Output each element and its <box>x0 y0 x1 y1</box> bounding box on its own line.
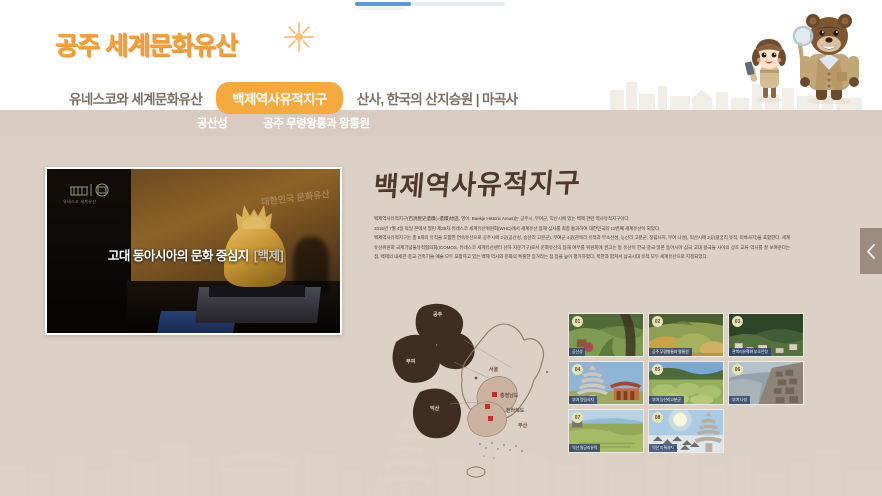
video-caption: 고대 동아시아의 문화 중심지[백제] <box>47 245 342 264</box>
korea-heritage-map[interactable]: 공주 부여 익산 서울 충청남도 전라북도 부산 <box>392 300 570 488</box>
gallery-item-05[interactable]: 05 부여 능산리고분군 <box>648 361 724 405</box>
map-label-seoul: 서울 <box>489 366 498 373</box>
heritage-photo-gallery: 01 공산성 02 공주 무령왕릉과 왕릉원 <box>568 313 808 453</box>
gallery-item-03[interactable]: 03 관북리유적과 부소산성 <box>728 313 804 357</box>
video-caption-tag: [백제] <box>254 249 283 263</box>
bear-mascot <box>794 14 859 104</box>
gallery-item-01[interactable]: 01 공산성 <box>568 313 644 357</box>
map-region-gongju: 공주 <box>433 311 442 318</box>
gallery-caption-06: 부여 나성 <box>729 396 750 404</box>
map-label-chungcheongnam: 충청남도 <box>500 392 518 399</box>
map-region-buyeo: 부여 <box>406 358 415 365</box>
nav-item-sansa[interactable]: 산사, 한국의 산지승원 | 마곡사 <box>343 82 532 114</box>
gallery-item-07[interactable]: 07 익산 왕궁리유적 <box>568 409 644 453</box>
gallery-caption-01: 공산성 <box>569 348 585 356</box>
chevron-left-icon <box>866 243 877 260</box>
gallery-item-06[interactable]: 06 부여 나성 <box>728 361 804 405</box>
map-graphic <box>392 300 570 488</box>
video-logo-caption: 유네스코 세계유산 <box>63 199 96 205</box>
sparkle-icon <box>282 20 316 54</box>
loading-bar-fill <box>355 2 411 6</box>
gallery-item-08[interactable]: 08 익산 미륵사지 <box>648 409 724 453</box>
site-logo[interactable]: 공주 세계문화유산 <box>55 26 237 62</box>
main-navigation: 유네스코와 세계문화유산 백제역사유적지구 산사, 한국의 산지승원 | 마곡사 <box>55 82 532 114</box>
loading-bar-ghost <box>358 7 404 10</box>
mascot-group <box>736 8 876 104</box>
nav-item-baekje[interactable]: 백제역사유적지구 <box>216 82 343 114</box>
gallery-number-03: 03 <box>732 316 743 327</box>
gallery-caption-07: 익산 왕궁리유적 <box>569 444 600 452</box>
article-paragraph-3: 백제역사유적지구는 총 8개의 유적을 포함한 연속유산으로 공주시에 2곳(공… <box>374 233 790 262</box>
gallery-number-08: 08 <box>652 412 663 423</box>
gallery-number-06: 06 <box>732 364 743 375</box>
gallery-caption-05: 부여 능산리고분군 <box>649 396 684 404</box>
gallery-number-02: 02 <box>652 316 663 327</box>
browser-loading-strip <box>0 0 882 10</box>
gallery-number-05: 05 <box>652 364 663 375</box>
gallery-number-07: 07 <box>572 412 583 423</box>
gallery-caption-02: 공주 무령왕릉과 왕릉원 <box>649 348 692 356</box>
article-paragraph-2: 2015년 7월 4일 독일 본에서 열린 제39차 유네스코 세계유산위원회(… <box>374 224 790 234</box>
map-region-iksan: 익산 <box>430 405 439 412</box>
video-player[interactable]: 유네스코 세계유산 대한민국 문화유산 고대 동아시아의 문화 중심지[백제] <box>45 167 342 335</box>
page-root: 공주 세계문화유산 <box>0 0 882 496</box>
nav-item-unesco[interactable]: 유네스코와 세계문화유산 <box>55 82 216 114</box>
gallery-caption-03: 관북리유적과 부소산성 <box>729 348 771 356</box>
subnav-item-royal-tombs[interactable]: 공주 무령왕릉과 왕릉원 <box>263 115 369 131</box>
gallery-item-04[interactable]: 04 부여 정림사지 <box>568 361 644 405</box>
video-caption-text: 고대 동아시아의 문화 중심지 <box>108 249 249 263</box>
panel-toggle-button[interactable] <box>860 228 882 274</box>
gallery-caption-08: 익산 미륵사지 <box>649 444 677 452</box>
subnav-item-gongsanseong[interactable]: 공산성 <box>197 115 227 131</box>
gallery-caption-04: 부여 정림사지 <box>569 396 597 404</box>
girl-mascot <box>745 39 786 103</box>
gallery-number-01: 01 <box>572 316 583 327</box>
gallery-item-placeholder <box>728 409 804 453</box>
gallery-item-02[interactable]: 02 공주 무령왕릉과 왕릉원 <box>648 313 724 357</box>
map-label-jeollabuk: 전라북도 <box>506 407 524 414</box>
loading-bar-track <box>355 2 505 6</box>
article-title: 백제역사유적지구 <box>372 161 582 204</box>
article-description: 백제역사유적지구(百濟歷史遺蹟(=遺蹟)地區, 영어: Baekje Histo… <box>374 214 790 262</box>
unesco-heritage-logo-icon <box>69 182 113 198</box>
gallery-number-04: 04 <box>572 364 583 375</box>
article-paragraph-1: 백제역사유적지구(百濟歷史遺蹟(=遺蹟)地區, 영어: Baekje Histo… <box>374 214 790 224</box>
map-label-busan: 부산 <box>518 422 527 429</box>
